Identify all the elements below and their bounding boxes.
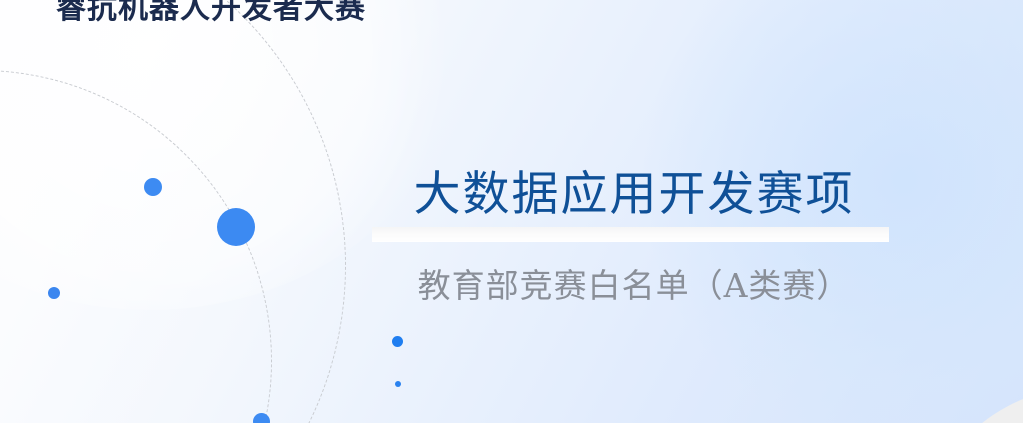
corner-blob-shape (920, 387, 1023, 423)
decorative-dot-medium (48, 287, 60, 299)
dashed-orbit-inner-icon (0, 70, 272, 423)
decorative-dot-extra-small (395, 381, 401, 387)
page-subtitle: 教育部竞赛白名单（A类赛） (372, 259, 896, 307)
decorative-dot-extra-large (217, 208, 255, 246)
title-block: 大数据应用开发赛项 教育部竞赛白名单（A类赛） (372, 168, 896, 307)
title-underline-rule (372, 227, 889, 242)
decorative-dot-large (144, 178, 162, 196)
competition-banner-heading: 睿抗机器人开发者大赛 (56, 0, 366, 27)
decorative-dot-small (392, 336, 403, 347)
page-title: 大数据应用开发赛项 (372, 168, 896, 222)
slide-canvas: 睿抗机器人开发者大赛 大数据应用开发赛项 教育部竞赛白名单（A类赛） (0, 0, 1023, 423)
dashed-orbit-outer-icon (0, 0, 346, 423)
decorative-dot-edge (253, 413, 270, 423)
